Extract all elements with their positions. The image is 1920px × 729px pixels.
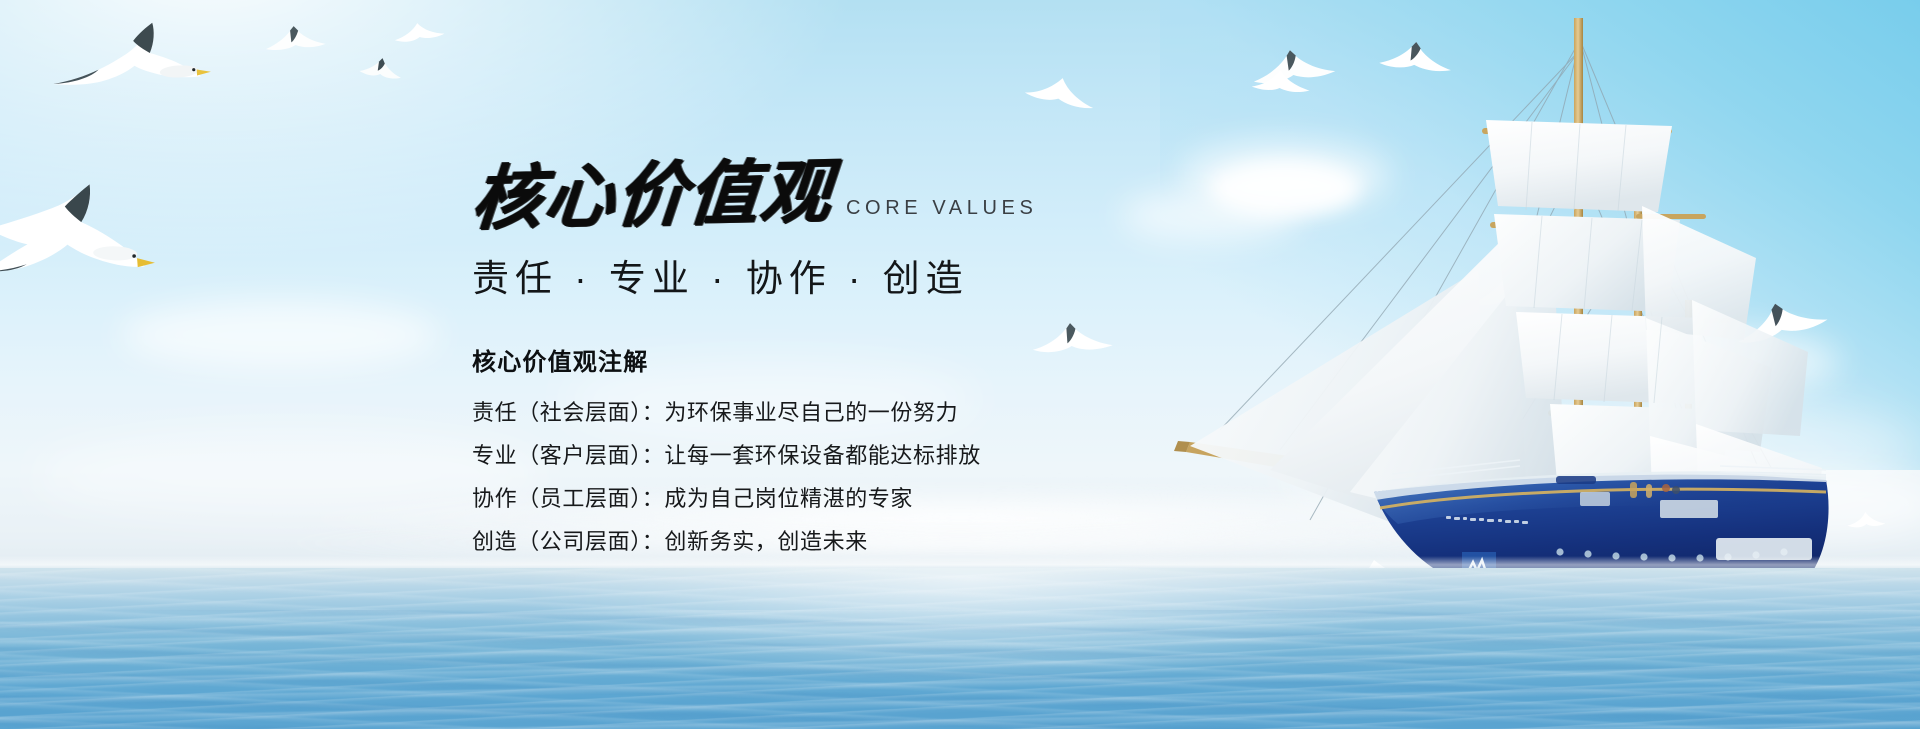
seagull-icon	[261, 19, 328, 60]
banner-text-block: 核心价值观 CORE VALUES 责任 · 专业 · 协作 · 创造 核心价值…	[472, 160, 1232, 563]
notes-block: 核心价值观注解 责任（社会层面）：为环保事业尽自己的一份努力 专业（客户层面）：…	[472, 342, 1232, 563]
ocean-surface	[0, 568, 1920, 729]
seagull-icon	[48, 14, 212, 100]
note-line-collaboration: 协作（员工层面）：成为自己岗位精湛的专家	[472, 477, 1232, 520]
page-title-english: CORE VALUES	[846, 197, 1037, 234]
note-line-professionalism: 专业（客户层面）：让每一套环保设备都能达标排放	[472, 434, 1232, 477]
seagull-icon	[0, 179, 168, 281]
notes-heading: 核心价值观注解	[472, 342, 1232, 377]
core-values-banner: 核心价值观 CORE VALUES 责任 · 专业 · 协作 · 创造 核心价值…	[0, 0, 1920, 729]
sea-ripples-far	[0, 610, 1920, 729]
page-title: 核心价值观	[469, 156, 836, 238]
title-row: 核心价值观 CORE VALUES	[472, 160, 1232, 234]
page-subtitle: 责任 · 专业 · 协作 · 创造	[472, 248, 1232, 302]
note-line-creation: 创造（公司层面）：创新务实，创造未来	[472, 520, 1232, 563]
note-line-responsibility: 责任（社会层面）：为环保事业尽自己的一份努力	[472, 391, 1232, 434]
